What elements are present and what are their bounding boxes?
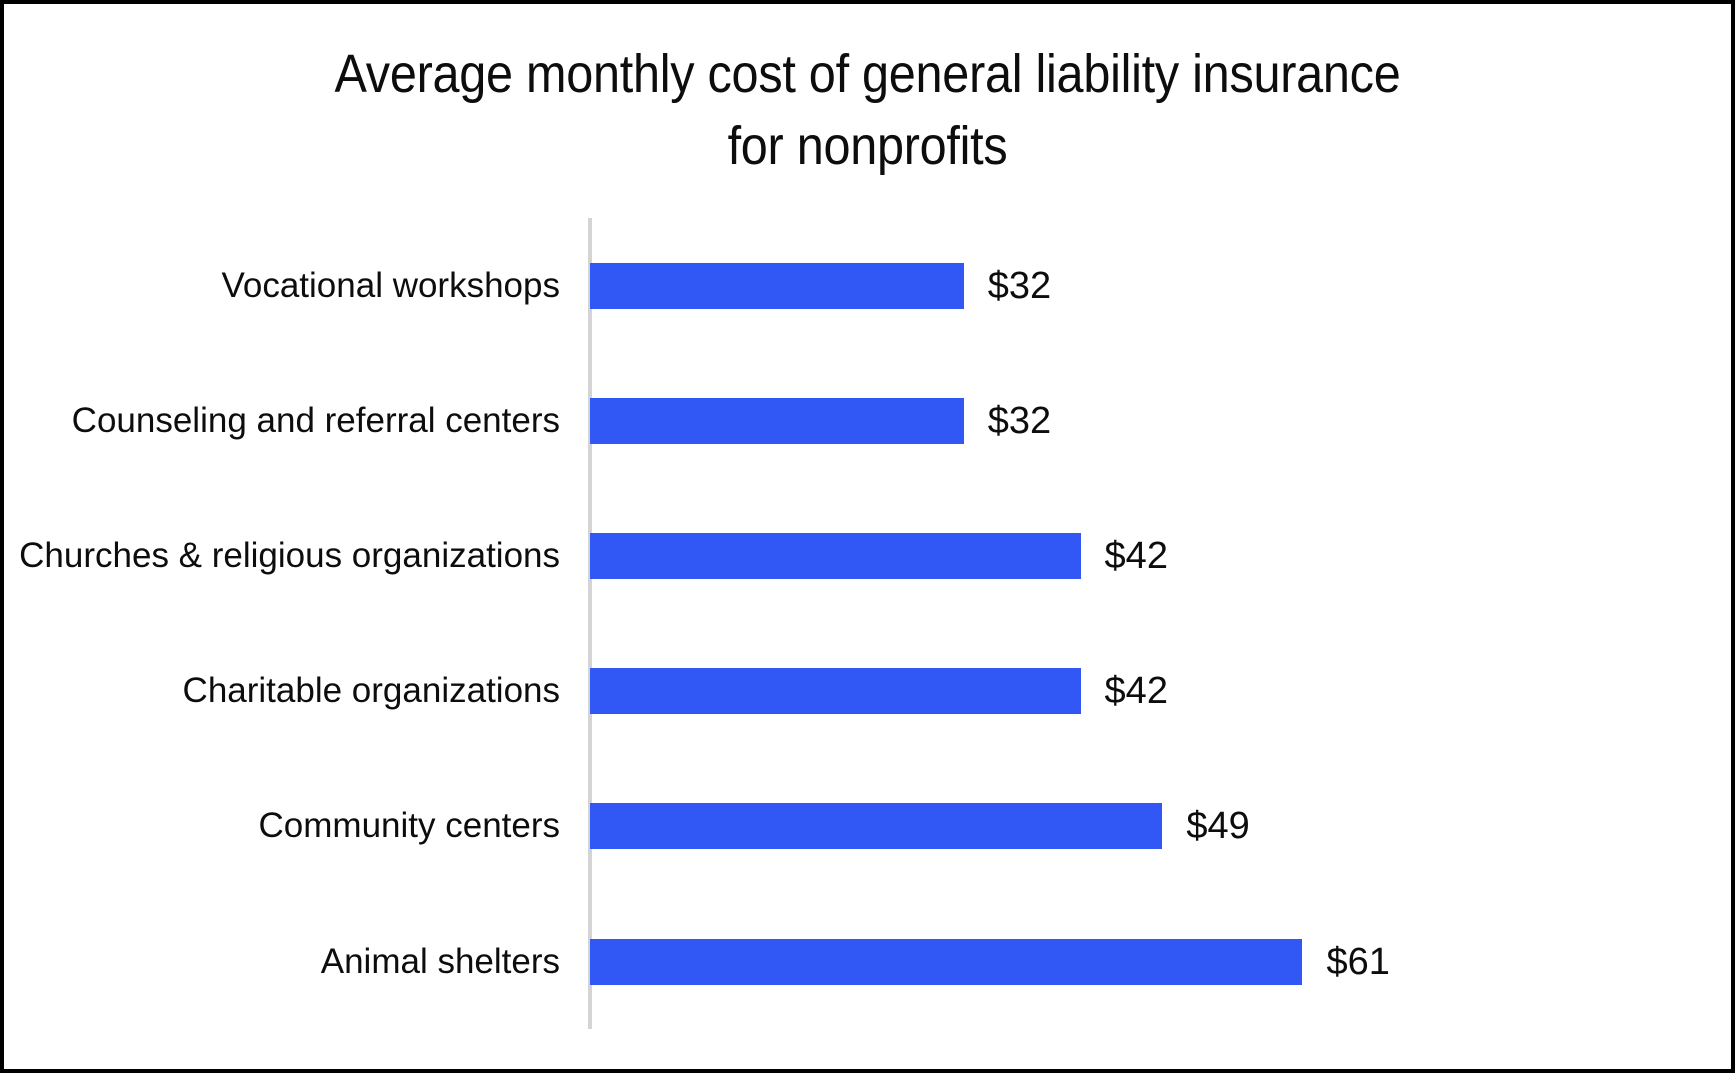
bar-group: $49 <box>590 803 1250 849</box>
bar-row: Counseling and referral centers $32 <box>4 353 1731 488</box>
bar-row: Vocational workshops $32 <box>4 218 1731 353</box>
bar-value-label: $32 <box>988 267 1051 305</box>
bar-rows: Vocational workshops $32 Counseling and … <box>4 218 1731 1029</box>
bar-row: Churches & religious organizations $42 <box>4 488 1731 623</box>
bar[interactable] <box>590 803 1162 849</box>
plot-area: Vocational workshops $32 Counseling and … <box>4 4 1731 1069</box>
bar-group: $32 <box>590 263 1051 309</box>
bar-group: $42 <box>590 668 1168 714</box>
category-label: Counseling and referral centers <box>72 401 560 441</box>
bar-value-label: $42 <box>1105 672 1168 710</box>
chart-frame: Average monthly cost of general liabilit… <box>0 0 1735 1073</box>
bar-row: Community centers $49 <box>4 759 1731 894</box>
bar[interactable] <box>590 939 1302 985</box>
bar-value-label: $49 <box>1186 807 1249 845</box>
bar[interactable] <box>590 398 964 444</box>
bar[interactable] <box>590 533 1081 579</box>
bar-group: $61 <box>590 939 1390 985</box>
bar-row: Charitable organizations $42 <box>4 624 1731 759</box>
bar-group: $42 <box>590 533 1168 579</box>
bar[interactable] <box>590 668 1081 714</box>
bar-group: $32 <box>590 398 1051 444</box>
category-label: Animal shelters <box>321 942 560 982</box>
category-label: Community centers <box>259 806 560 846</box>
bar[interactable] <box>590 263 964 309</box>
category-label: Churches & religious organizations <box>19 536 560 576</box>
category-label: Vocational workshops <box>221 266 560 306</box>
bar-value-label: $42 <box>1105 537 1168 575</box>
bar-value-label: $32 <box>988 402 1051 440</box>
bar-row: Animal shelters $61 <box>4 894 1731 1029</box>
bar-value-label: $61 <box>1326 943 1389 981</box>
category-label: Charitable organizations <box>183 671 560 711</box>
